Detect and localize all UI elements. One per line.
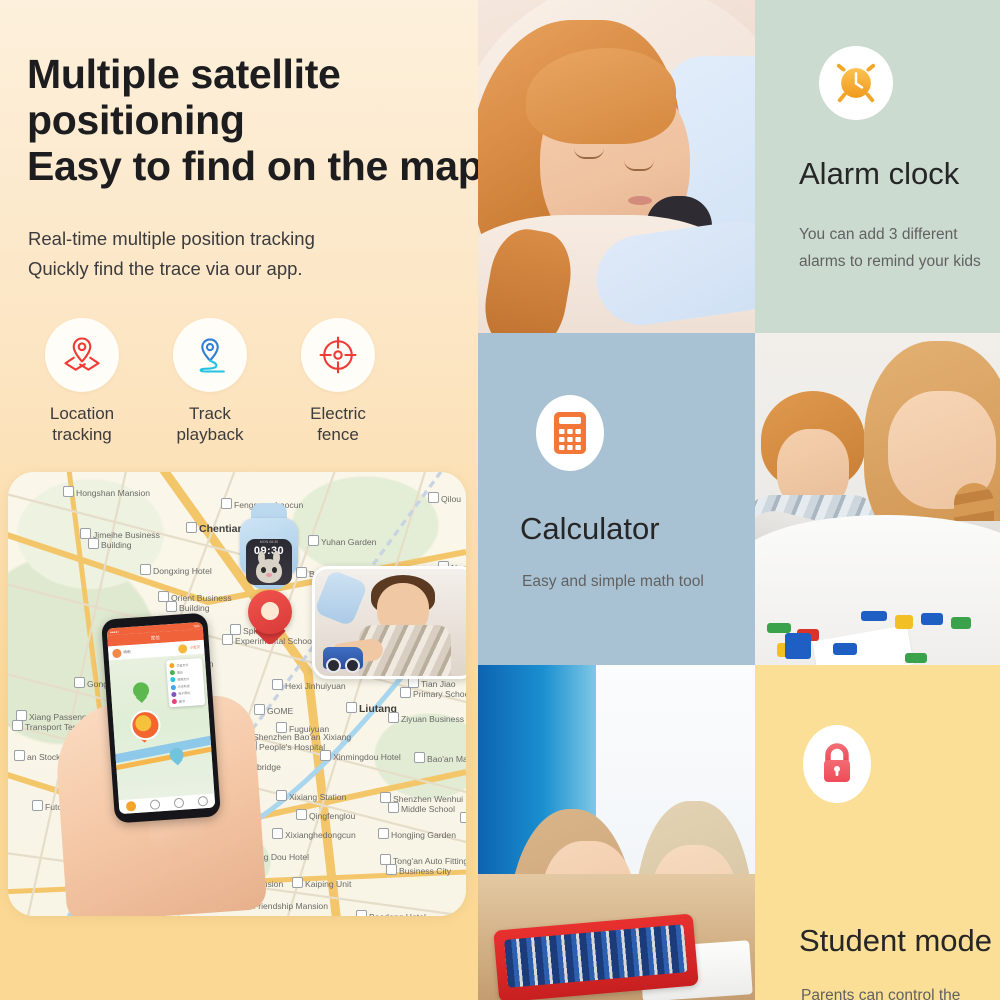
app-menu-item-icon: [171, 692, 176, 697]
watch-cartoon-face: [256, 559, 282, 583]
app-menu-item-label: 路书: [179, 699, 185, 703]
sleeping-child-photo: [478, 0, 755, 333]
satellite-positioning-panel: Multiple satellite positioning Easy to f…: [0, 0, 478, 1000]
map-poi-icon: [140, 564, 151, 575]
feature-electric-fence[interactable]: Electric fence: [274, 318, 402, 446]
phone-screen: ●●●●○78% 定位 明明 小宝贝: [107, 622, 216, 814]
subtitle-line-2: Quickly find the trace via our app.: [28, 254, 458, 284]
app-menu-item[interactable]: 路书: [169, 696, 205, 706]
app-marker-green[interactable]: [132, 682, 149, 703]
map-poi-label: Hongjing Garden: [378, 828, 456, 840]
feature-location-tracking[interactable]: Location tracking: [18, 318, 146, 446]
map-poi-label: Kaiping Unit: [292, 877, 351, 889]
map-poi-icon: [346, 702, 357, 713]
app-menu-item-icon: [170, 670, 175, 675]
kids-smartwatch: MON 08:30 09:30: [240, 503, 298, 589]
watch-time: 09:30: [246, 545, 292, 557]
map-poi-label: Qingfenglou: [296, 809, 355, 821]
location-pin-map-icon-bubble: [45, 318, 119, 392]
app-menu-item-label: 历史轨迹: [178, 684, 190, 689]
page-title: Multiple satellite positioning Easy to f…: [27, 52, 472, 190]
map-poi-label: Qilou: [428, 492, 461, 504]
location-icon[interactable]: [126, 801, 137, 812]
app-menu-item-icon: [170, 677, 175, 682]
map-poi-label: Yuhan Garden: [308, 535, 376, 547]
product-feature-collage: Multiple satellite positioning Easy to f…: [0, 0, 1000, 1000]
track-playback-pin-icon-bubble: [173, 318, 247, 392]
app-marker-blue[interactable]: [169, 748, 184, 766]
map-location-marker[interactable]: [248, 590, 292, 648]
calculator-description: Easy and simple math tool: [522, 569, 755, 596]
app-menu-item-icon: [172, 699, 177, 704]
watch-date: MON 08:30: [246, 540, 292, 544]
location-pin-map-icon: [60, 333, 104, 377]
app-marker-child[interactable]: [129, 709, 157, 743]
app-layer-menu[interactable]: 卫星定位基站精准定位历史轨迹电子围栏路书: [166, 658, 205, 708]
map-poi-icon: [414, 752, 425, 763]
map-poi-icon: [308, 535, 319, 546]
map-poi-icon: [166, 601, 177, 612]
map-poi-icon: [254, 704, 265, 715]
electric-fence-target-icon: [316, 333, 360, 377]
alarm-clock-icon: [833, 60, 879, 106]
calculator-icon-bubble: [536, 395, 604, 471]
map-poi-icon: [428, 492, 439, 503]
map-poi-label: People's Hospital: [246, 740, 325, 752]
electric-fence-target-icon-bubble: [301, 318, 375, 392]
map-poi-label: Xixianghedongcun: [272, 828, 356, 840]
feature-label-location: Location tracking: [50, 403, 114, 446]
profile-icon[interactable]: [198, 796, 209, 807]
subtitle: Real-time multiple position tracking Qui…: [28, 224, 458, 284]
map-poi-label: Hexi Jinhuiyuan: [272, 679, 346, 691]
feature-label-track: Track playback: [176, 403, 243, 446]
map-poi-label: Business City: [386, 864, 451, 876]
map-poi-label: Baodeng Hotel: [356, 910, 426, 916]
map-poi-icon: [221, 498, 232, 509]
subtitle-line-1: Real-time multiple position tracking: [28, 224, 458, 254]
app-map-area[interactable]: 卫星定位基站精准定位历史轨迹电子围栏路书: [109, 654, 215, 800]
map-poi-icon: [388, 802, 399, 813]
map-poi-label: Dongxing Hotel: [140, 564, 212, 576]
feature-track-playback[interactable]: Track playback: [146, 318, 274, 446]
map-poi-label: GOME: [254, 704, 293, 716]
watch-body: MON 08:30 09:30: [240, 518, 298, 576]
student-mode-title: Student mode: [799, 923, 992, 959]
map-poi-label: an Stock: [14, 750, 60, 762]
map-poi-label: Xinmingdou Hotel: [320, 750, 401, 762]
calculator-icon: [552, 410, 588, 456]
alarm-clock-feature-panel: Alarm clock You can add 3 different alar…: [755, 0, 1000, 333]
feature-label-fence: Electric fence: [310, 403, 366, 446]
map-poi-icon: [272, 679, 283, 690]
map-poi-label: Hongshan Mansion: [63, 486, 150, 498]
map-poi-icon: [296, 809, 307, 820]
map-poi-label: Sha: [460, 812, 466, 825]
map-poi-label: Primary School: [400, 687, 466, 699]
map-poi-icon: [272, 828, 283, 839]
app-menu-item-label: 电子围栏: [178, 691, 190, 696]
student-mode-feature-panel: Student mode Parents can control the usa…: [755, 665, 1000, 1000]
child-photo-card: [312, 566, 466, 679]
child-chip-left[interactable]: 明明: [112, 647, 131, 657]
map-poi-label: Ziyuan Business Hotel: [388, 712, 466, 724]
map-poi-label: Building: [88, 538, 132, 550]
app-menu-item-label: 卫星定位: [176, 663, 188, 668]
app-menu-item-icon: [171, 685, 176, 690]
map-poi-icon: [222, 634, 233, 645]
app-menu-item-label: 基站: [177, 670, 183, 674]
map-poi-icon: [276, 790, 287, 801]
map-poi-icon: [12, 720, 23, 731]
map-poi-icon: [292, 877, 303, 888]
alarm-clock-icon-bubble: [819, 46, 893, 120]
map-poi-icon: [388, 712, 399, 723]
alarm-clock-description: You can add 3 different alarms to remind…: [799, 222, 1000, 275]
map-poi-icon: [32, 800, 43, 811]
student-mode-description: Parents can control the usage of watch: [801, 983, 1000, 1000]
headline-line-2: positioning: [27, 98, 472, 144]
map-poi-icon: [356, 910, 367, 916]
map-poi-label: Middle School: [388, 802, 455, 814]
map-poi-icon: [460, 812, 466, 823]
alarm-clock-title: Alarm clock: [799, 156, 959, 192]
map-poi-icon: [63, 486, 74, 497]
map-poi-label: Building: [166, 601, 210, 613]
calculator-feature-panel: Calculator Easy and simple math tool: [478, 333, 755, 665]
map-poi-label: Chentian: [186, 522, 244, 535]
history-icon[interactable]: [150, 799, 161, 810]
padlock-icon: [818, 741, 856, 787]
star-icon[interactable]: [174, 798, 185, 809]
map-poi-icon: [186, 522, 197, 533]
child-chip-right[interactable]: 小宝贝: [178, 643, 200, 653]
track-playback-pin-icon: [188, 333, 232, 377]
kids-with-blocks-photo: [755, 333, 1000, 665]
map-poi-icon: [320, 750, 331, 761]
map-poi-icon: [14, 750, 25, 761]
map-poi-label: Xixiang Station: [276, 790, 346, 802]
padlock-icon-bubble: [803, 725, 871, 803]
classroom-girl-raising-hand-photo: [478, 665, 755, 1000]
app-menu-item-icon: [169, 663, 174, 668]
map-poi-icon: [378, 828, 389, 839]
watch-screen: MON 08:30 09:30: [246, 539, 292, 585]
app-menu-item-label: 精准定位: [177, 677, 189, 682]
map-poi-label: Bao'an Mansion: [414, 752, 466, 764]
calculator-title: Calculator: [520, 511, 660, 547]
map-poi-icon: [88, 538, 99, 549]
phone-device[interactable]: ●●●●○78% 定位 明明 小宝贝: [101, 613, 221, 824]
map-poi-icon: [74, 677, 85, 688]
map-preview-card[interactable]: Hongshan MansionFenggang LaocunQilouChen…: [8, 472, 466, 916]
map-poi-icon: [386, 864, 397, 875]
headline-line-3: Easy to find on the map: [27, 144, 472, 190]
map-poi-icon: [400, 687, 411, 698]
headline-line-1: Multiple satellite: [27, 52, 472, 98]
feature-icon-row: Location tracking Track playback: [18, 318, 408, 446]
